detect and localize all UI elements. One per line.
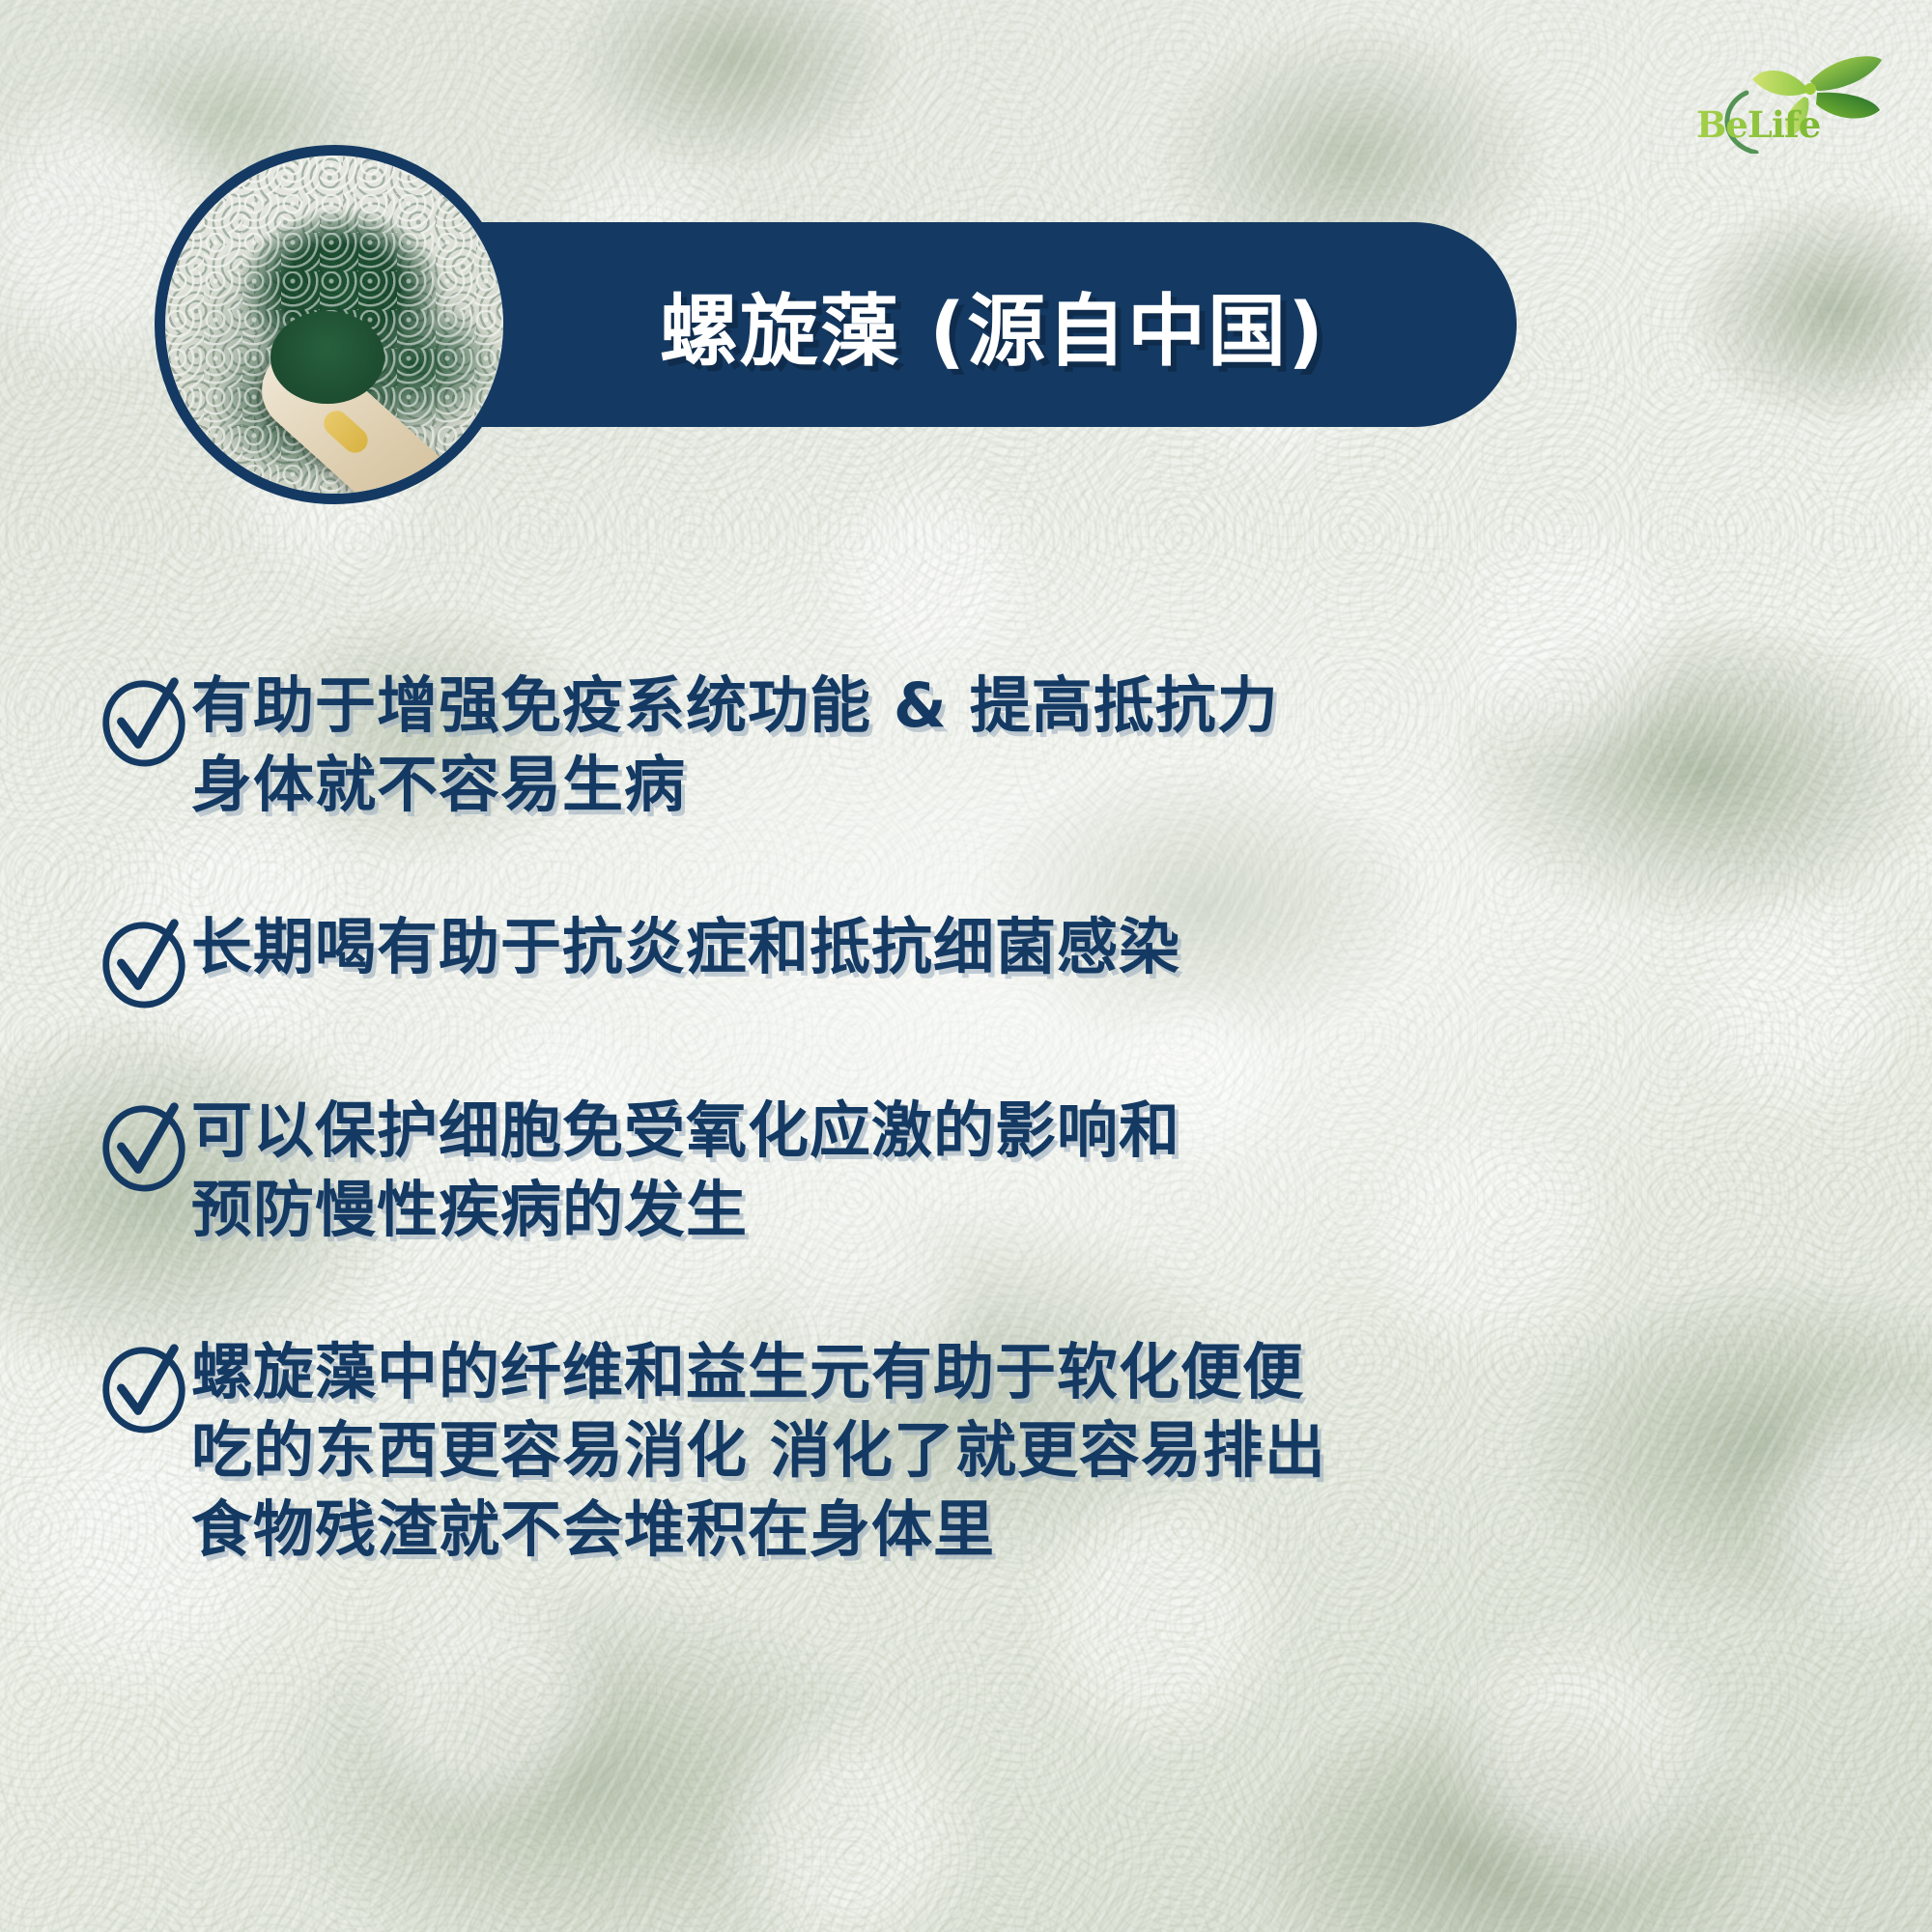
benefit-text: 可以保护细胞免受氧化应激的影响和预防慢性疾病的发生	[191, 1092, 1180, 1250]
benefit-text-line: 有助于增强免疫系统功能 & 提高抵抗力	[191, 667, 1279, 746]
benefit-text: 长期喝有助于抗炎症和抵抗细菌感染	[191, 908, 1180, 987]
benefit-text-line: 吃的东西更容易消化 消化了就更容易排出	[191, 1411, 1326, 1491]
circle-check-icon	[97, 1097, 191, 1192]
logo-wordmark: BeLife	[1696, 103, 1820, 146]
header-banner: 螺旋藻 (源自中国)	[155, 145, 1517, 504]
circle-check-icon	[97, 672, 191, 767]
benefit-text-line: 长期喝有助于抗炎症和抵抗细菌感染	[191, 908, 1180, 987]
circle-check-icon	[97, 1097, 191, 1192]
benefit-text: 螺旋藻中的纤维和益生元有助于软化便便吃的东西更容易消化 消化了就更容易排出食物残…	[191, 1333, 1326, 1571]
circle-check-icon	[97, 914, 191, 1009]
circle-check-icon	[97, 914, 191, 1009]
benefit-item: 有助于增强免疫系统功能 & 提高抵抗力身体就不容易生病	[0, 667, 1932, 825]
benefit-item: 长期喝有助于抗炎症和抵抗细菌感染	[0, 908, 1932, 1009]
benefit-item: 可以保护细胞免受氧化应激的影响和预防慢性疾病的发生	[0, 1092, 1932, 1250]
page-title: 螺旋藻 (源自中国)	[473, 222, 1512, 427]
benefit-text-line: 预防慢性疾病的发生	[191, 1171, 1180, 1250]
benefit-text-line: 螺旋藻中的纤维和益生元有助于软化便便	[191, 1333, 1326, 1412]
benefit-text-line: 可以保护细胞免受氧化应激的影响和	[191, 1092, 1180, 1171]
belife-logo: BeLife	[1689, 43, 1891, 154]
benefit-text: 有助于增强免疫系统功能 & 提高抵抗力身体就不容易生病	[191, 667, 1279, 825]
benefits-list: 有助于增强免疫系统功能 & 提高抵抗力身体就不容易生病长期喝有助于抗炎症和抵抗细…	[0, 667, 1932, 1653]
spirulina-powder-image	[165, 156, 503, 494]
benefit-item: 螺旋藻中的纤维和益生元有助于软化便便吃的东西更容易消化 消化了就更容易排出食物残…	[0, 1333, 1932, 1571]
benefit-text-line: 食物残渣就不会堆积在身体里	[191, 1491, 1326, 1570]
wooden-scoop-bowl	[270, 311, 384, 404]
circle-check-icon	[97, 1339, 191, 1434]
benefit-text-line: 身体就不容易生病	[191, 746, 1279, 825]
circle-check-icon	[97, 1339, 191, 1434]
circle-check-icon	[97, 672, 191, 767]
spirulina-photo	[155, 145, 514, 504]
